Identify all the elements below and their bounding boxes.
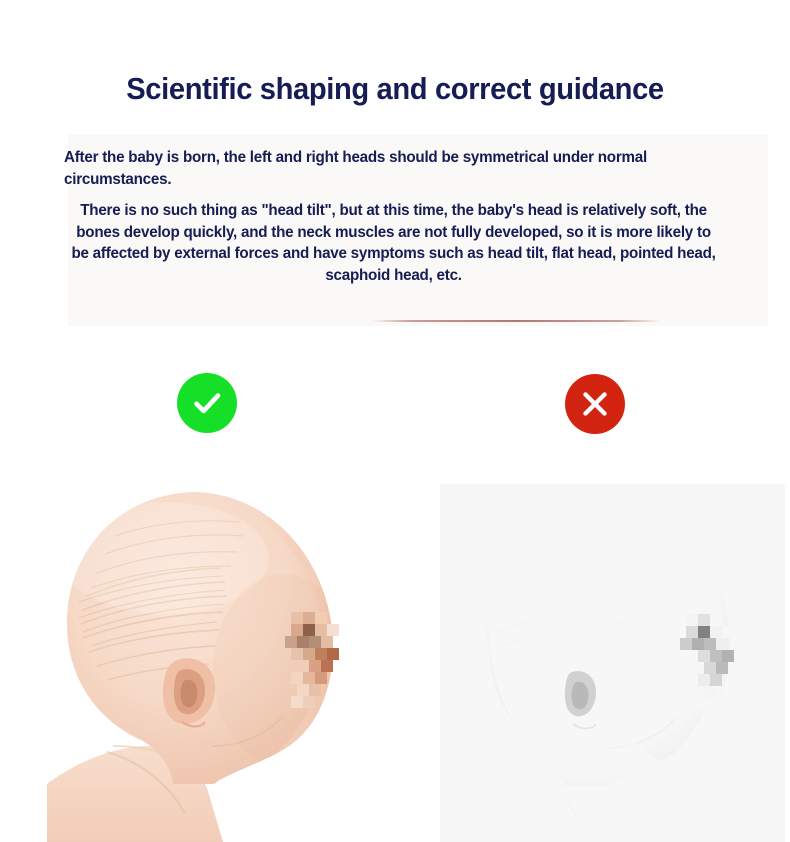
cross-circle-icon	[565, 374, 625, 434]
body-text-block: After the baby is born, the left and rig…	[64, 147, 740, 286]
infographic-page: Scientific shaping and correct guidance …	[0, 0, 790, 842]
photo-comparison-row	[0, 484, 790, 842]
page-title: Scientific shaping and correct guidance	[24, 70, 767, 108]
paragraph-head-tilt: There is no such thing as "head tilt", b…	[64, 200, 723, 286]
paragraph-symmetry: After the baby is born, the left and rig…	[64, 147, 723, 190]
baby-head-profile-flat-photo	[440, 484, 785, 842]
check-circle-icon	[177, 373, 237, 433]
baby-head-profile-normal-photo	[45, 484, 390, 842]
verdict-icon-row	[0, 371, 790, 435]
band-streak-artifact	[371, 320, 661, 322]
